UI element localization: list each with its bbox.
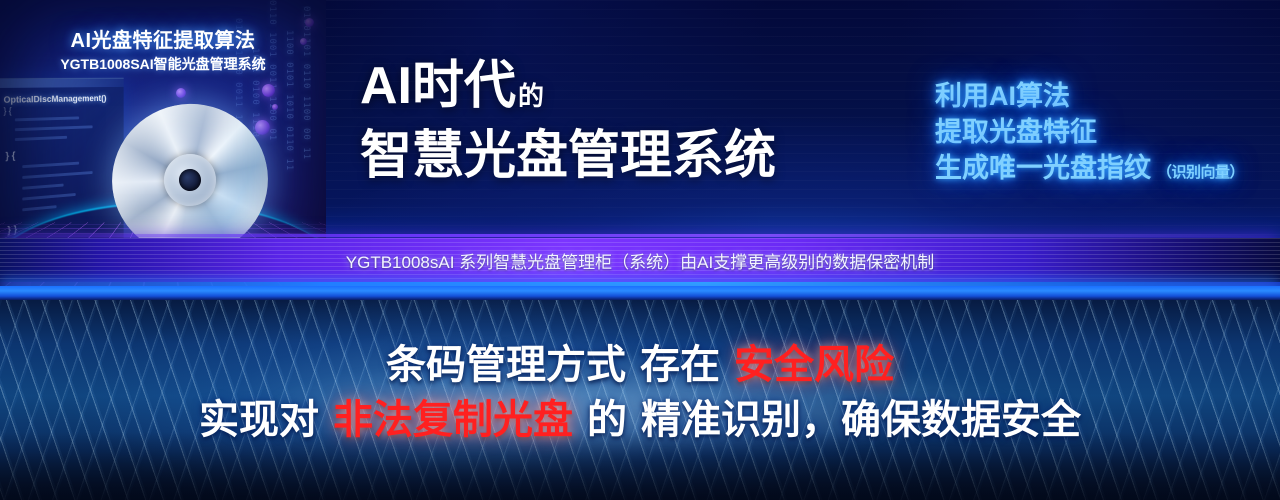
bottom-message: 条码管理方式存在安全风险 实现对非法复制光盘的精准识别，确保数据安全 — [0, 338, 1280, 448]
bottom-message-line-1: 条码管理方式存在安全风险 — [0, 338, 1280, 393]
code-line — [22, 171, 92, 179]
promo-banner: 01001101 0110 1100 00 11 1100 0101 1010 … — [0, 0, 1280, 500]
code-line — [15, 116, 79, 121]
feature-list-item: 提取光盘特征 — [935, 114, 1280, 150]
feature-text: 利用AI算法 — [935, 81, 1070, 111]
code-function-label: OpticalDiscManagement() — [4, 93, 107, 105]
bottom-seg-highlight: 非法复制光盘 — [333, 398, 573, 442]
particle-dot — [272, 104, 278, 110]
code-brace-open: } { — [4, 106, 12, 116]
headline-main-text: AI时代 — [360, 57, 516, 115]
feature-list-item: 生成唯一光盘指纹（识别向量） — [935, 150, 1280, 191]
code-line — [22, 193, 75, 200]
code-line — [15, 125, 93, 131]
code-line — [15, 136, 67, 141]
hero-panel-title: AI光盘特征提取算法 — [0, 24, 326, 53]
code-brace-mid: } { — [5, 151, 15, 162]
particle-dot — [262, 84, 275, 97]
code-window: OpticalDiscManagement() } { } { } } — [0, 78, 124, 259]
subtitle-text: YGTB1008sAI 系列智慧光盘管理柜（系统）由AI支撑更高级别的数据保密机… — [346, 248, 934, 273]
bottom-seg: 条码管理方式 — [386, 343, 626, 387]
feature-text: 提取光盘特征 — [935, 117, 1097, 147]
code-window-titlebar — [0, 79, 124, 88]
feature-list: 利用AI算法 提取光盘特征 生成唯一光盘指纹（识别向量） — [935, 78, 1280, 191]
headline-line-1: AI时代的 — [360, 60, 900, 112]
bottom-seg: 实现对 — [199, 398, 319, 442]
bottom-seg: 精准识别，确保数据安全 — [641, 398, 1081, 442]
code-line — [22, 205, 56, 211]
feature-text: 生成唯一光盘指纹 — [935, 153, 1151, 183]
bottom-seg: 的 — [587, 398, 627, 442]
subtitle-band: YGTB1008sAI 系列智慧光盘管理柜（系统）由AI支撑更高级别的数据保密机… — [0, 238, 1280, 282]
headline-suffix-text: 的 — [518, 81, 544, 111]
bottom-message-line-2: 实现对非法复制光盘的精准识别，确保数据安全 — [0, 393, 1280, 448]
headline-line-2: 智慧光盘管理系统 — [360, 130, 900, 182]
code-line — [22, 184, 63, 190]
code-line — [22, 162, 79, 168]
feature-list-item: 利用AI算法 — [935, 78, 1280, 114]
headline-block: AI时代的 智慧光盘管理系统 — [360, 60, 900, 182]
top-section: 01001101 0110 1100 00 11 1100 0101 1010 … — [0, 0, 1280, 300]
bottom-seg: 存在 — [640, 343, 720, 387]
particle-dot — [176, 88, 186, 98]
particle-dot — [255, 120, 270, 135]
hero-panel-subtitle: YGTB1008SAI智能光盘管理系统 — [0, 54, 326, 74]
bottom-seg-highlight: 安全风险 — [734, 343, 894, 387]
section-divider-bar — [0, 286, 1280, 300]
band-top-line — [0, 234, 1280, 237]
feature-note: （识别向量） — [1157, 164, 1244, 181]
